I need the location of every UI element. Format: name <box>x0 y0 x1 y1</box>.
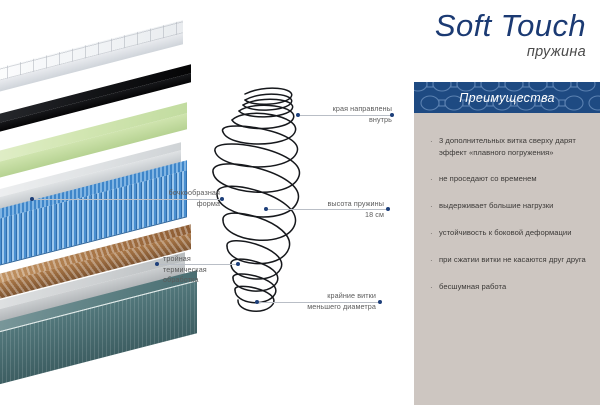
bullet-icon: · <box>430 200 439 213</box>
benefits-panel: Преимущества · 3 дополнительных витка св… <box>414 82 600 405</box>
benefit-text: устойчивость к боковой деформации <box>439 227 572 240</box>
callout-bottom-coils: крайние витки меньшего диаметра <box>276 291 376 312</box>
benefits-list: · 3 дополнительных витка сверху дарят эф… <box>414 113 600 293</box>
callout-dot-bottom-end <box>378 300 382 304</box>
leader-line-barrel-layer <box>34 199 150 200</box>
callout-barrel-shape-text: бочкообразная форма <box>152 188 220 209</box>
product-infographic: края направлены внутрь высота пружины 18… <box>0 0 600 405</box>
callout-thermal-treatment-text: тройная термическая обработка <box>163 254 235 286</box>
callout-spring-height-text: высота пружины 18 см <box>300 199 384 220</box>
callout-edges-inward: края направлены внутрь <box>300 104 392 125</box>
bullet-icon: · <box>430 254 439 267</box>
list-item: · устойчивость к боковой деформации <box>430 227 590 240</box>
callout-bottom-coils-text: крайние витки меньшего диаметра <box>276 291 376 312</box>
benefit-text: не проседают со временем <box>439 173 537 186</box>
list-item: · 3 дополнительных витка сверху дарят эф… <box>430 135 590 158</box>
benefit-text: 3 дополнительных витка сверху дарят эффе… <box>439 135 590 158</box>
bullet-icon: · <box>430 227 439 240</box>
product-subtitle: пружина <box>435 43 586 61</box>
bullet-icon: · <box>430 281 439 294</box>
list-item: · бесшумная работа <box>430 281 590 294</box>
list-item: · выдерживает большие нагрузки <box>430 200 590 213</box>
list-item: · не проседают со временем <box>430 173 590 186</box>
callout-thermal-treatment: тройная термическая обработка <box>163 254 235 286</box>
callout-edges-inward-text: края направлены внутрь <box>300 104 392 125</box>
bullet-icon: · <box>430 135 439 158</box>
list-item: · при сжатии витки не касаются друг друг… <box>430 254 590 267</box>
benefits-panel-header: Преимущества <box>414 82 600 113</box>
benefit-text: выдерживает большие нагрузки <box>439 200 553 213</box>
callout-barrel-shape: бочкообразная форма <box>152 188 220 209</box>
callout-spring-height: высота пружины 18 см <box>300 199 384 220</box>
title-block: Soft Touch пружина <box>435 8 586 61</box>
benefits-panel-title: Преимущества <box>414 82 600 113</box>
callout-dot-height-end <box>386 207 390 211</box>
bullet-icon: · <box>430 173 439 186</box>
product-title: Soft Touch <box>435 8 586 44</box>
benefit-text: при сжатии витки не касаются друг друга <box>439 254 586 267</box>
benefit-text: бесшумная работа <box>439 281 506 294</box>
